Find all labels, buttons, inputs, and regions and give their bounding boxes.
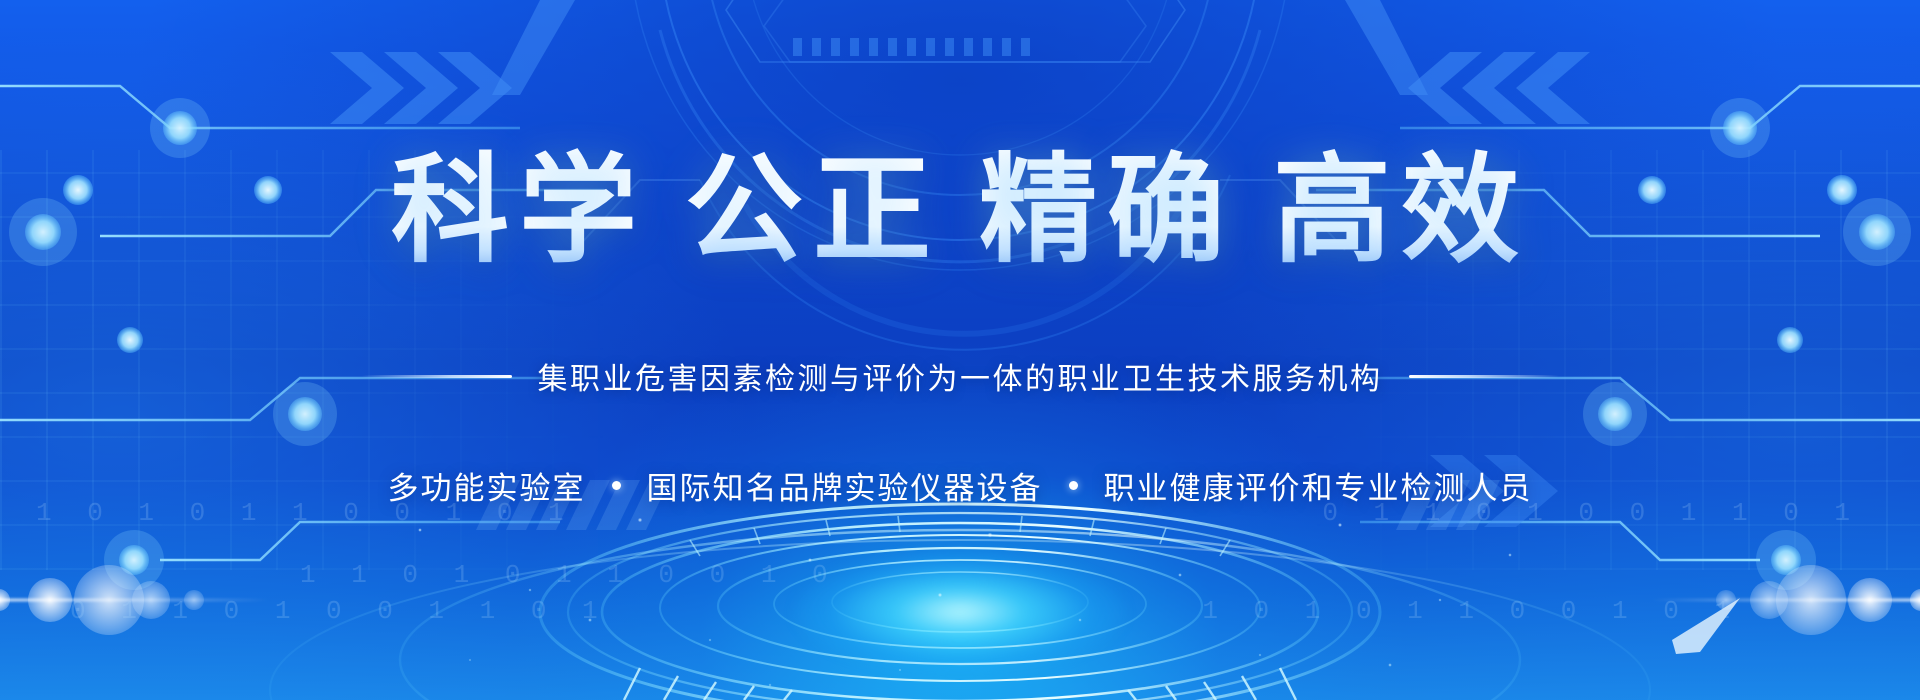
tagline-1: 多功能实验室 bbox=[388, 463, 586, 508]
headline-word-1: 科学 bbox=[391, 145, 647, 277]
headline-word-2: 公正 bbox=[685, 145, 941, 277]
banner-content: 科学公正精确高效 集职业危害因素检测与评价为一体的职业卫生技术服务机构 多功能实… bbox=[0, 0, 1920, 700]
tagline-3: 职业健康评价和专业检测人员 bbox=[1104, 463, 1533, 508]
rule-left-decoration bbox=[362, 375, 512, 378]
banner-subtitle: 集职业危害因素检测与评价为一体的职业卫生技术服务机构 bbox=[538, 354, 1383, 398]
bullet-separator-icon bbox=[1069, 481, 1078, 490]
bullet-separator-icon bbox=[612, 481, 621, 490]
headline-word-4: 高效 bbox=[1273, 145, 1529, 277]
banner-headline: 科学公正精确高效 bbox=[0, 148, 1920, 275]
banner-taglines: 多功能实验室 国际知名品牌实验仪器设备 职业健康评价和专业检测人员 bbox=[0, 463, 1920, 508]
hero-banner: 1 0 1 0 1 1 0 0 1 0 1 0 1 1 0 1 0 0 1 1 … bbox=[0, 0, 1920, 700]
headline-word-3: 精确 bbox=[979, 145, 1235, 277]
banner-subtitle-row: 集职业危害因素检测与评价为一体的职业卫生技术服务机构 bbox=[0, 354, 1920, 398]
rule-right-decoration bbox=[1409, 375, 1559, 378]
tagline-2: 国际知名品牌实验仪器设备 bbox=[647, 463, 1043, 508]
